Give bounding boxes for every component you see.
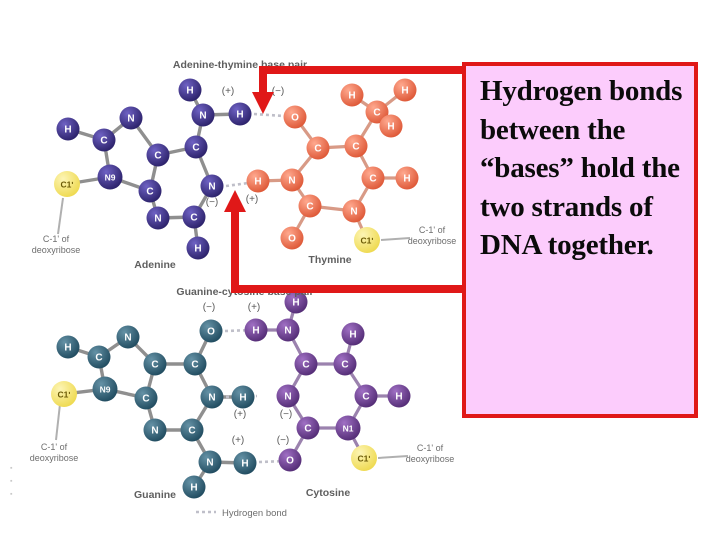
atom-g-c6: C — [184, 353, 207, 376]
atom-label: H — [395, 392, 402, 403]
atom-g-n3: N — [144, 419, 167, 442]
atom-a-h-bond: H — [229, 103, 252, 126]
atom-label: H — [403, 174, 410, 185]
atom-label: C — [151, 360, 158, 371]
deoxyribose-caption-thymine-2: deoxyribose — [408, 236, 457, 246]
atom-label: C — [314, 144, 321, 155]
label-thymine: Thymine — [308, 254, 351, 266]
atom-label: N — [284, 326, 291, 337]
atom-g-h2b: H — [234, 452, 257, 475]
atom-label: N — [208, 393, 215, 404]
atom-label: N — [284, 392, 291, 403]
atom-label: C — [188, 426, 195, 437]
atom-label: H — [186, 86, 193, 97]
atom-a-h-top: H — [179, 79, 202, 102]
atom-label: C1ʹ — [361, 236, 374, 246]
atom-g-h1: H — [232, 386, 255, 409]
atom-label: H — [292, 298, 299, 309]
atom-label: H — [387, 122, 394, 133]
atom-label: C — [373, 108, 380, 119]
atom-t-h-m3: H — [380, 115, 403, 138]
atom-t-c5: C — [345, 135, 368, 158]
atom-t-n3: N — [281, 169, 304, 192]
charge-chg-at-4: (+) — [246, 194, 259, 205]
atom-label: O — [286, 456, 294, 467]
atom-label: C — [369, 174, 376, 185]
atom-label: H — [349, 330, 356, 341]
atom-a-n3: N — [147, 207, 170, 230]
atom-a-n1: N — [201, 175, 224, 198]
atom-a-c5: C — [147, 144, 170, 167]
atom-label: C — [154, 151, 161, 162]
atom-label: C — [100, 136, 107, 147]
atom-t-o2: O — [281, 227, 304, 250]
atom-a-c8: C — [93, 129, 116, 152]
atom-g-sugar: C1ʹ — [51, 381, 77, 407]
charge-chg-gc-4: (−) — [280, 409, 293, 420]
atom-label: H — [239, 393, 246, 404]
charge-chg-gc-1: (−) — [203, 302, 216, 313]
atom-label: H — [236, 110, 243, 121]
atom-label: H — [254, 177, 261, 188]
atom-label: N — [350, 207, 357, 218]
atom-g-c8: C — [88, 346, 111, 369]
atom-label: C — [192, 143, 199, 154]
atom-label: C — [142, 394, 149, 405]
atom-a-h-left: H — [57, 118, 80, 141]
atom-label: N — [151, 426, 158, 437]
atom-t-n1: N — [343, 200, 366, 223]
atom-label: N9 — [105, 173, 116, 183]
atom-label: N9 — [100, 385, 111, 395]
charge-chg-gc-2: (+) — [248, 302, 261, 313]
hydrogen-bond-callout-box: Hydrogen bonds between the “bases” hold … — [462, 62, 698, 418]
deoxyribose-caption-guanine-1: C-1ʹ of — [41, 442, 68, 452]
atom-label: H — [252, 326, 259, 337]
atom-c-sugar: C1ʹ — [351, 445, 377, 471]
atom-label: H — [241, 459, 248, 470]
atom-label: O — [291, 113, 299, 124]
atom-label: H — [64, 343, 71, 354]
atom-label: C — [306, 202, 313, 213]
atom-a-n7: N — [120, 107, 143, 130]
atom-t-h3: H — [247, 170, 270, 193]
atom-g-h-left: H — [57, 336, 80, 359]
atom-label: N — [124, 333, 131, 344]
legend-hydrogen-bond-label: Hydrogen bond — [222, 508, 287, 519]
atom-label: N — [208, 182, 215, 193]
atom-c-c4: C — [295, 353, 318, 376]
atom-label: C — [352, 142, 359, 153]
atom-t-h6: H — [396, 167, 419, 190]
deoxyribose-caption-thymine-1: C-1ʹ of — [419, 225, 446, 235]
atom-label: C — [302, 360, 309, 371]
atom-c-n3: N — [277, 385, 300, 408]
atom-label: C1ʹ — [61, 180, 74, 190]
atom-label: C1ʹ — [358, 454, 371, 464]
atom-a-c2: C — [183, 206, 206, 229]
atom-t-h-m2: H — [394, 79, 417, 102]
atom-a-n6: N — [192, 104, 215, 127]
atom-c-n4: N — [277, 319, 300, 342]
atom-g-n9: N9 — [93, 377, 118, 402]
atom-label: N — [288, 176, 295, 187]
atom-c-c2: C — [297, 417, 320, 440]
atom-label: H — [401, 86, 408, 97]
charge-chg-at-2: (−) — [272, 86, 285, 97]
atom-c-o2: O — [279, 449, 302, 472]
atom-label: N — [127, 114, 134, 125]
charge-chg-gc-3: (+) — [234, 409, 247, 420]
atom-label: C — [146, 187, 153, 198]
atom-g-h2a: H — [183, 476, 206, 499]
atom-label: N — [154, 214, 161, 225]
atom-c-c5: C — [334, 353, 357, 376]
atom-c-h6: H — [388, 385, 411, 408]
atom-label: C — [95, 353, 102, 364]
atom-t-o4: O — [284, 106, 307, 129]
atom-label: C1ʹ — [58, 390, 71, 400]
label-guanine: Guanine — [134, 489, 176, 501]
deoxyribose-caption-cytosine-2: deoxyribose — [406, 454, 455, 464]
atom-label: C — [341, 360, 348, 371]
atom-label: O — [288, 234, 296, 245]
atom-t-c4: C — [307, 137, 330, 160]
label-cytosine: Cytosine — [306, 487, 351, 499]
atom-a-c6: C — [185, 136, 208, 159]
deoxyribose-caption-guanine-2: deoxyribose — [30, 453, 79, 463]
atom-label: H — [348, 91, 355, 102]
label-adenine: Adenine — [134, 259, 176, 271]
atom-label: C — [190, 213, 197, 224]
atom-label: C — [362, 392, 369, 403]
deoxyribose-caption-adenine-1: C-1ʹ of — [43, 234, 70, 244]
charge-chg-gc-6: (−) — [277, 435, 290, 446]
slide-canvas: HCNN9CCNCHNCNHHC1ʹOCCCHHHCHNCONHC1ʹHCNN9… — [0, 0, 720, 539]
atom-t-sugar: C1ʹ — [354, 227, 380, 253]
atom-g-n7: N — [117, 326, 140, 349]
atom-label: C — [304, 424, 311, 435]
atom-c-h5: H — [342, 323, 365, 346]
atom-a-c4: C — [139, 180, 162, 203]
deoxyribose-caption-adenine-2: deoxyribose — [32, 245, 81, 255]
atom-label: N — [199, 111, 206, 122]
atom-label: N1 — [343, 424, 354, 434]
atom-c-c6: C — [355, 385, 378, 408]
atom-label: C — [191, 360, 198, 371]
atom-t-h-m1: H — [341, 84, 364, 107]
atom-g-c2: C — [181, 419, 204, 442]
atom-label: H — [194, 244, 201, 255]
atom-label: H — [190, 483, 197, 494]
atom-label: H — [64, 125, 71, 136]
atom-label: N — [206, 458, 213, 469]
edge-artifact-mark: ▪▪▪ — [10, 462, 30, 506]
atom-label: O — [207, 327, 215, 338]
charge-chg-at-3: (−) — [206, 197, 219, 208]
atom-g-n1: N — [201, 386, 224, 409]
atom-t-c6: C — [362, 167, 385, 190]
atom-t-c2: C — [299, 195, 322, 218]
atom-c-n1: N1 — [336, 416, 361, 441]
atom-a-h-bottom: H — [187, 237, 210, 260]
charge-chg-gc-5: (+) — [232, 435, 245, 446]
charge-chg-at-1: (+) — [222, 86, 235, 97]
atom-g-n2: N — [199, 451, 222, 474]
atom-g-c4: C — [135, 387, 158, 410]
atom-a-n9: N9 — [98, 165, 123, 190]
deoxyribose-caption-cytosine-1: C-1ʹ of — [417, 443, 444, 453]
callout-text: Hydrogen bonds between the “bases” hold … — [480, 72, 692, 265]
atom-g-c5: C — [144, 353, 167, 376]
atom-g-o6: O — [200, 320, 223, 343]
atom-a-sugar: C1ʹ — [54, 171, 80, 197]
atom-c-h-n4a: H — [245, 319, 268, 342]
